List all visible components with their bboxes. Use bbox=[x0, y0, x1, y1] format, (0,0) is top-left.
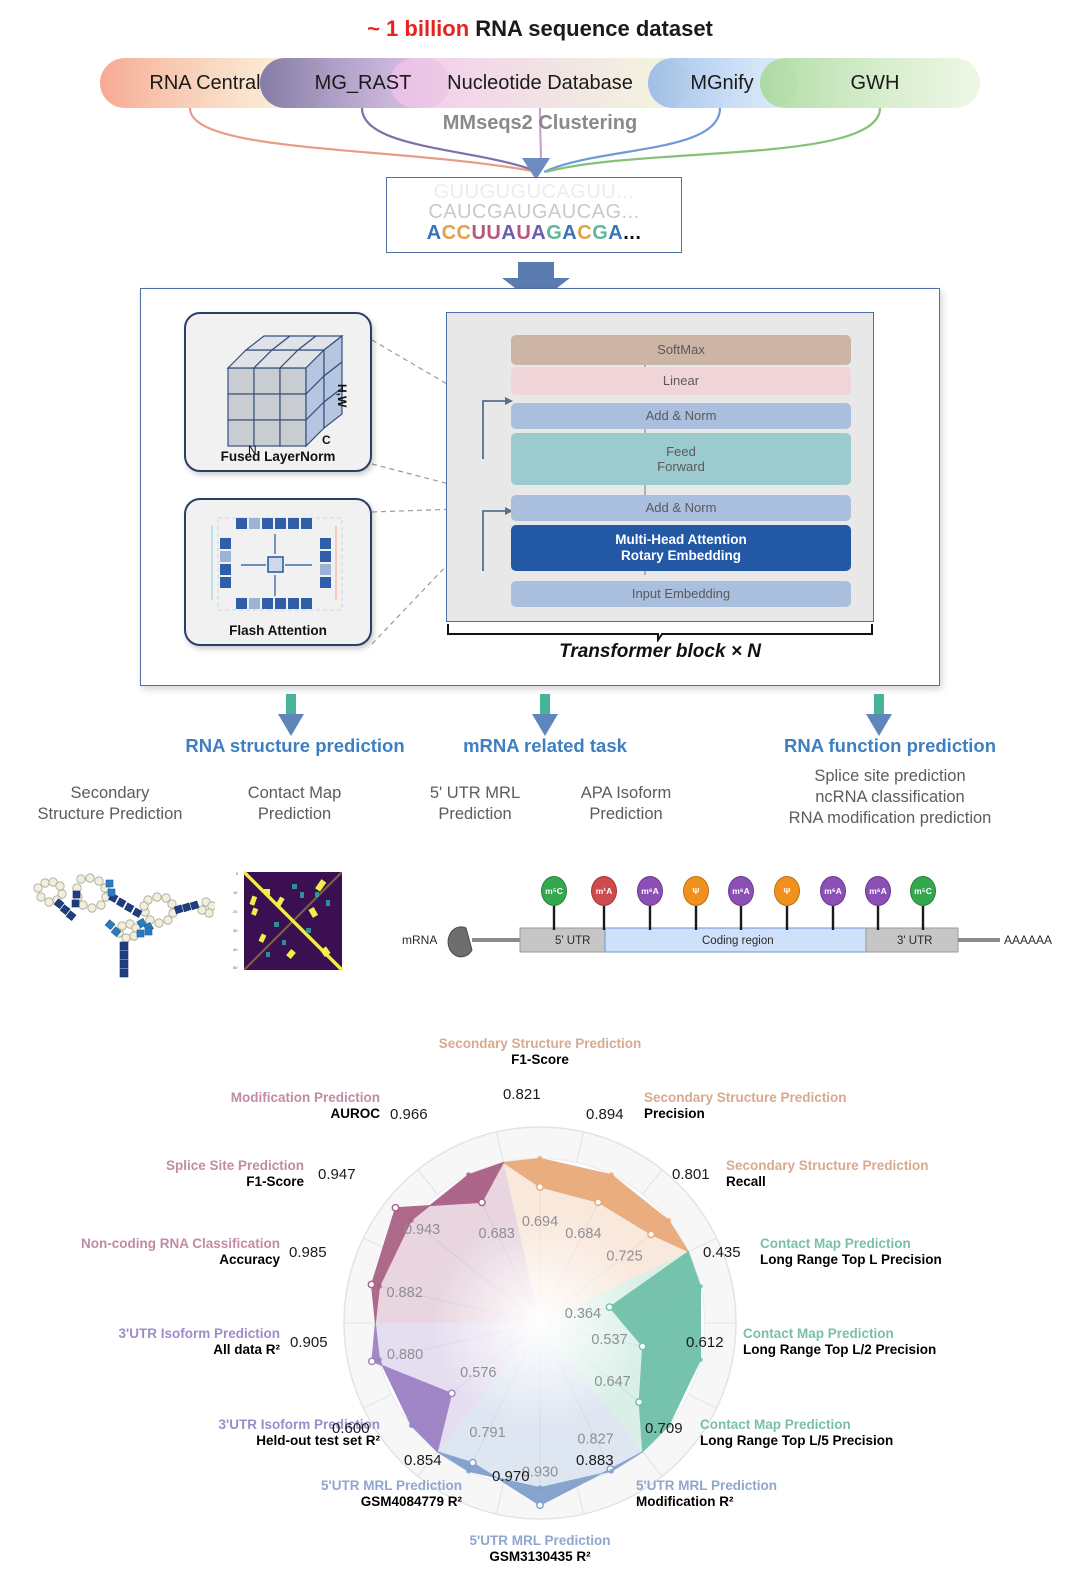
transformer-bracket-icon bbox=[446, 622, 874, 642]
radar-value-modification-auroc: 0.966 bbox=[390, 1106, 428, 1123]
radar-label-isoform-alldata: 3'UTR Isoform Prediction All data R² bbox=[30, 1326, 280, 1359]
database-pill-rna-central[interactable]: RNA Central bbox=[110, 58, 300, 108]
radar-label-secondary-f1: Secondary Structure Prediction F1-Score bbox=[340, 1036, 740, 1069]
task-item-5utr-mrl: 5' UTR MRLPrediction bbox=[405, 783, 545, 825]
performance-radar-chart: 0.6940.6840.7250.3640.5370.6470.8270.930… bbox=[0, 1020, 1080, 1595]
radar-label-secondary-precision: Secondary Structure Prediction Precision bbox=[644, 1090, 924, 1123]
radar-label-contact-topl5: Contact Map Prediction Long Range Top L/… bbox=[700, 1417, 1010, 1450]
task-name: Secondary Structure Prediction bbox=[644, 1090, 924, 1106]
metric-name: Long Range Top L/2 Precision bbox=[743, 1342, 1053, 1358]
radar-inner-value: 0.364 bbox=[565, 1306, 601, 1322]
value: 0.894 bbox=[586, 1106, 624, 1123]
radar-value-secondary-precision: 0.894 bbox=[586, 1106, 624, 1123]
radar-value-mrl-modification: 0.883 bbox=[576, 1452, 614, 1469]
block-label-line1: Feed bbox=[666, 444, 696, 459]
axis-label-hw: H,W bbox=[335, 384, 349, 408]
axis-label-c: C bbox=[322, 433, 331, 447]
task-name: 5'UTR MRL Prediction bbox=[340, 1533, 740, 1549]
metric-name: F1-Score bbox=[34, 1174, 304, 1190]
task-item-apa-isoform: APA IsoformPrediction bbox=[552, 783, 700, 825]
task-item-contact-map: Contact MapPrediction bbox=[212, 783, 377, 825]
database-label: MG_RAST bbox=[315, 72, 412, 95]
radar-value-contact-topl: 0.435 bbox=[703, 1244, 741, 1261]
modification-marker-3[interactable]: Ψ bbox=[683, 876, 709, 906]
task-arrow-icon-function bbox=[866, 694, 892, 738]
task-name: Modification Prediction bbox=[100, 1090, 380, 1106]
value: 0.709 bbox=[645, 1420, 683, 1437]
task-item-function-list: Splice site prediction ncRNA classificat… bbox=[740, 766, 1040, 829]
task-arrow-icon-structure bbox=[278, 694, 304, 738]
metric-name: AUROC bbox=[100, 1106, 380, 1122]
modification-marker-0[interactable]: m⁵C bbox=[541, 876, 567, 906]
radar-inner-value: 0.880 bbox=[387, 1347, 423, 1363]
line2: Prediction bbox=[258, 805, 331, 823]
contact-map-heatmap-illustration: 01020304050 bbox=[222, 862, 358, 984]
modification-label: m⁶A bbox=[869, 886, 887, 896]
task-name: 5'UTR MRL Prediction bbox=[172, 1478, 462, 1494]
block-label: Input Embedding bbox=[632, 586, 730, 601]
radar-label-secondary-recall: Secondary Structure Prediction Recall bbox=[726, 1158, 1006, 1191]
value: 0.600 bbox=[332, 1420, 370, 1437]
modification-marker-6[interactable]: m⁶A bbox=[820, 876, 846, 906]
value: 0.905 bbox=[290, 1334, 328, 1351]
radar-label-mrl-modification: 5'UTR MRL Prediction Modification R² bbox=[636, 1478, 916, 1511]
database-pill-gwh[interactable]: GWH bbox=[800, 58, 950, 108]
radar-value-secondary-recall: 0.801 bbox=[672, 1166, 710, 1183]
transformer-block-feed-forward: Feed Forward bbox=[511, 433, 851, 485]
database-label: RNA Central bbox=[149, 72, 260, 95]
task-heading-rna-function: RNA function prediction bbox=[720, 735, 1060, 757]
radar-value-mrl-gsm4084779: 0.854 bbox=[404, 1452, 442, 1469]
metric-name: Accuracy bbox=[10, 1252, 280, 1268]
line1: Splice site prediction bbox=[814, 767, 965, 785]
radar-inner-value: 0.537 bbox=[591, 1332, 627, 1348]
modification-marker-8[interactable]: m⁵C bbox=[910, 876, 936, 906]
radar-inner-value: 0.694 bbox=[522, 1214, 558, 1230]
dataset-size-text: ~ 1 billion bbox=[367, 16, 469, 41]
transformer-block-multihead-attention: Multi-Head Attention Rotary Embedding bbox=[511, 525, 851, 571]
radar-label-contact-topl2: Contact Map Prediction Long Range Top L/… bbox=[743, 1326, 1053, 1359]
svg-text:10: 10 bbox=[233, 890, 238, 895]
task-name: Secondary Structure Prediction bbox=[340, 1036, 740, 1052]
block-label: Linear bbox=[663, 373, 699, 388]
radar-inner-value: 0.683 bbox=[479, 1226, 515, 1242]
radar-label-contact-topl: Contact Map Prediction Long Range Top L … bbox=[760, 1236, 1050, 1269]
transformer-panel: SoftMax Linear Add & Norm Feed Forward A… bbox=[446, 312, 874, 622]
svg-text:0: 0 bbox=[236, 871, 239, 876]
flash-attention-card: Flash Attention bbox=[184, 498, 372, 646]
line1: APA Isoform bbox=[581, 784, 671, 802]
radar-label-splice-f1: Splice Site Prediction F1-Score bbox=[34, 1158, 304, 1191]
metric-name: All data R² bbox=[30, 1342, 280, 1358]
mrna-label: mRNA bbox=[402, 933, 437, 947]
transformer-block-add-norm-2: Add & Norm bbox=[511, 495, 851, 521]
radar-inner-value: 0.647 bbox=[594, 1374, 630, 1390]
line1: Contact Map bbox=[248, 784, 342, 802]
radar-value-ncrna-accuracy: 0.985 bbox=[289, 1244, 327, 1261]
metric-name: F1-Score bbox=[340, 1052, 740, 1068]
svg-text:20: 20 bbox=[233, 909, 238, 914]
svg-text:50: 50 bbox=[233, 965, 238, 970]
segment-label-coding: Coding region bbox=[702, 935, 774, 947]
task-name: 3'UTR Isoform Prediction bbox=[30, 1326, 280, 1342]
modification-label: m⁶A bbox=[732, 886, 750, 896]
heading-text: RNA structure prediction bbox=[185, 735, 404, 756]
modification-label: Ψ bbox=[784, 886, 791, 896]
dataset-title-rest: RNA sequence dataset bbox=[469, 16, 713, 41]
radar-inner-value: 0.791 bbox=[469, 1425, 505, 1441]
radar-inner-value: 0.576 bbox=[460, 1365, 496, 1381]
line2: Prediction bbox=[438, 805, 511, 823]
modification-marker-1[interactable]: m¹A bbox=[591, 876, 617, 906]
value: 0.947 bbox=[318, 1166, 356, 1183]
radar-value-contact-topl5: 0.709 bbox=[645, 1420, 683, 1437]
sequence-line-3: ACCUUAUAGACGA... bbox=[387, 222, 681, 245]
block-label-line2: Forward bbox=[657, 459, 705, 474]
mrna-modification-diagram: mRNA 5' AAAAAA 5' UTR Coding region 3' U… bbox=[400, 862, 1060, 982]
fused-layernorm-title: Fused LayerNorm bbox=[186, 449, 370, 464]
rna-secondary-structure-illustration bbox=[10, 862, 215, 982]
transformer-block-linear: Linear bbox=[511, 367, 851, 395]
value: 0.970 bbox=[492, 1468, 530, 1485]
metric-name: Long Range Top L/5 Precision bbox=[700, 1433, 1010, 1449]
radar-label-mrl-gsm3130435: 5'UTR MRL Prediction GSM3130435 R² bbox=[340, 1533, 740, 1566]
flash-attention-title: Flash Attention bbox=[186, 623, 370, 638]
value: 0.612 bbox=[686, 1334, 724, 1351]
line1: 5' UTR MRL bbox=[430, 784, 520, 802]
task-name: Contact Map Prediction bbox=[760, 1236, 1050, 1252]
radar-inner-value: 0.943 bbox=[404, 1222, 440, 1238]
modification-label: m⁵C bbox=[545, 886, 563, 896]
radar-value-secondary-f1: 0.821 bbox=[503, 1086, 541, 1103]
task-name: Contact Map Prediction bbox=[700, 1417, 1010, 1433]
task-name: Contact Map Prediction bbox=[743, 1326, 1053, 1342]
database-label: GWH bbox=[851, 72, 900, 95]
modification-marker-5[interactable]: Ψ bbox=[774, 876, 800, 906]
line2: Prediction bbox=[589, 805, 662, 823]
radar-label-mrl-gsm4084779: 5'UTR MRL Prediction GSM4084779 R² bbox=[172, 1478, 462, 1511]
value: 0.883 bbox=[576, 1452, 614, 1469]
block-label-line1: Multi-Head Attention bbox=[615, 532, 746, 548]
modification-marker-4[interactable]: m⁶A bbox=[728, 876, 754, 906]
metric-name: Modification R² bbox=[636, 1494, 916, 1510]
svg-text:30: 30 bbox=[233, 928, 238, 933]
sequence-line-2: CAUCGAUGAUCAG... bbox=[387, 201, 681, 224]
svg-text:40: 40 bbox=[233, 947, 238, 952]
segment-label-5utr: 5' UTR bbox=[555, 935, 590, 947]
task-heading-mrna-related: mRNA related task bbox=[400, 735, 690, 757]
transformer-block-input-embedding: Input Embedding bbox=[511, 581, 851, 607]
page-title: ~ 1 billion RNA sequence dataset bbox=[0, 16, 1080, 42]
transformer-block-add-norm-1: Add & Norm bbox=[511, 403, 851, 429]
task-name: Splice Site Prediction bbox=[34, 1158, 304, 1174]
modification-label: m⁶A bbox=[641, 886, 659, 896]
modification-label: Ψ bbox=[693, 886, 700, 896]
block-label: Add & Norm bbox=[646, 408, 717, 423]
transformer-caption: Transformer block × N bbox=[446, 641, 874, 663]
line3: RNA modification prediction bbox=[789, 809, 992, 827]
value: 0.966 bbox=[390, 1106, 428, 1123]
polya-label: AAAAAA bbox=[1004, 933, 1052, 947]
database-pill-nucleotide-database[interactable]: Nucleotide Database bbox=[400, 58, 680, 108]
flash-attention-icon bbox=[186, 504, 374, 626]
task-name: Secondary Structure Prediction bbox=[726, 1158, 1006, 1174]
tensor-cube-icon: H,W C N bbox=[186, 318, 374, 458]
metric-name: GSM3130435 R² bbox=[340, 1549, 740, 1565]
radar-inner-value: 0.827 bbox=[577, 1431, 613, 1447]
line1: Secondary bbox=[71, 784, 150, 802]
modification-label: m¹A bbox=[596, 886, 613, 896]
radar-value-isoform-heldout: 0.600 bbox=[332, 1420, 370, 1437]
line2: Structure Prediction bbox=[38, 805, 183, 823]
radar-inner-value: 0.684 bbox=[565, 1226, 601, 1242]
fused-layernorm-card: H,W C N Fused LayerNorm bbox=[184, 312, 372, 472]
value: 0.985 bbox=[289, 1244, 327, 1261]
metric-name: GSM4084779 R² bbox=[172, 1494, 462, 1510]
radar-value-contact-topl2: 0.612 bbox=[686, 1334, 724, 1351]
radar-label-ncrna-accuracy: Non-coding RNA Classification Accuracy bbox=[10, 1236, 280, 1269]
value: 0.801 bbox=[672, 1166, 710, 1183]
database-bar: RNA Central MG_RAST Nucleotide Database … bbox=[100, 58, 980, 108]
radar-inner-value: 0.725 bbox=[606, 1249, 642, 1265]
metric-name: Recall bbox=[726, 1174, 1006, 1190]
task-arrow-icon-mrna bbox=[532, 694, 558, 738]
radar-value-splice-f1: 0.947 bbox=[318, 1166, 356, 1183]
radar-value-isoform-alldata: 0.905 bbox=[290, 1334, 328, 1351]
heading-text: RNA function prediction bbox=[784, 735, 996, 756]
modification-label: m⁵C bbox=[914, 886, 932, 896]
database-pill-mgnify[interactable]: MGnify bbox=[652, 58, 792, 108]
transformer-block-softmax: SoftMax bbox=[511, 335, 851, 365]
sequence-box: GUUGUGUCAGUU... CAUCGAUGAUCAG... ACCUUAU… bbox=[386, 177, 682, 253]
block-label-line2: Rotary Embedding bbox=[621, 548, 741, 564]
task-name: 5'UTR MRL Prediction bbox=[636, 1478, 916, 1494]
metric-name: Long Range Top L Precision bbox=[760, 1252, 1050, 1268]
block-label: SoftMax bbox=[657, 342, 705, 357]
task-item-secondary-structure: SecondaryStructure Prediction bbox=[10, 783, 210, 825]
modification-marker-2[interactable]: m⁶A bbox=[637, 876, 663, 906]
radar-label-modification-auroc: Modification Prediction AUROC bbox=[100, 1090, 380, 1123]
modification-label: m⁶A bbox=[824, 886, 842, 896]
value: 0.821 bbox=[503, 1086, 541, 1103]
radar-value-mrl-gsm3130435: 0.970 bbox=[492, 1468, 530, 1485]
radar-inner-value: 0.882 bbox=[386, 1285, 422, 1301]
segment-label-3utr: 3' UTR bbox=[897, 935, 932, 947]
line2: ncRNA classification bbox=[815, 788, 964, 806]
modification-marker-7[interactable]: m⁶A bbox=[865, 876, 891, 906]
database-label: MGnify bbox=[690, 72, 753, 95]
block-label: Add & Norm bbox=[646, 500, 717, 515]
clustering-label: MMseqs2 Clustering bbox=[0, 112, 1080, 135]
heading-text: mRNA related task bbox=[463, 735, 627, 756]
value: 0.435 bbox=[703, 1244, 741, 1261]
task-name: Non-coding RNA Classification bbox=[10, 1236, 280, 1252]
value: 0.854 bbox=[404, 1452, 442, 1469]
database-label: Nucleotide Database bbox=[447, 72, 633, 95]
metric-name: Precision bbox=[644, 1106, 924, 1122]
